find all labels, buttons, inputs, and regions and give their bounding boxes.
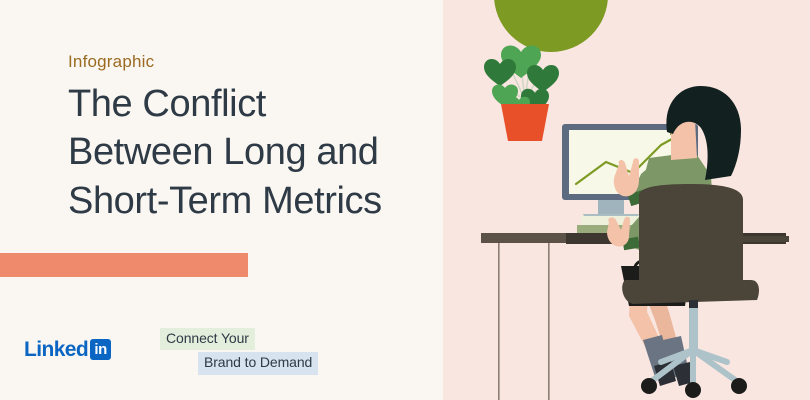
tagline-row-2: Brand to Demand <box>160 352 318 374</box>
eyebrow-label: Infographic <box>68 52 154 72</box>
chair-armrest <box>741 236 789 242</box>
headline-line-1: The Conflict <box>68 80 428 128</box>
desk-top-left <box>481 233 566 243</box>
tagline-line-2: Brand to Demand <box>198 352 318 374</box>
accent-bar <box>0 253 248 277</box>
workspace-illustration <box>443 0 810 400</box>
page-title: The Conflict Between Long and Short-Term… <box>68 80 428 225</box>
linkedin-wordmark: Linked <box>24 339 88 360</box>
linkedin-badge-icon: in <box>90 339 111 360</box>
linkedin-logo: Linked in <box>24 337 111 361</box>
chair-caster-right <box>731 378 747 394</box>
linkedin-badge-label: in <box>94 342 106 357</box>
left-text-panel: Infographic The Conflict Between Long an… <box>0 0 443 400</box>
chair-backrest <box>639 184 743 282</box>
chair-cylinder-top <box>689 300 698 309</box>
desk-leg-right <box>548 241 550 400</box>
tagline: Connect Your Brand to Demand <box>160 328 318 375</box>
headline-line-3: Short-Term Metrics <box>68 177 428 225</box>
tagline-line-1: Connect Your <box>160 328 255 350</box>
chair-cylinder <box>689 308 698 352</box>
chair-caster-left <box>641 378 657 394</box>
desk-leg-left <box>498 241 500 400</box>
right-illustration-panel <box>443 0 810 400</box>
poster-root: Infographic The Conflict Between Long an… <box>0 0 810 400</box>
chair-caster-center <box>685 382 701 398</box>
headline-line-2: Between Long and <box>68 128 428 176</box>
plant-pot <box>501 104 549 141</box>
